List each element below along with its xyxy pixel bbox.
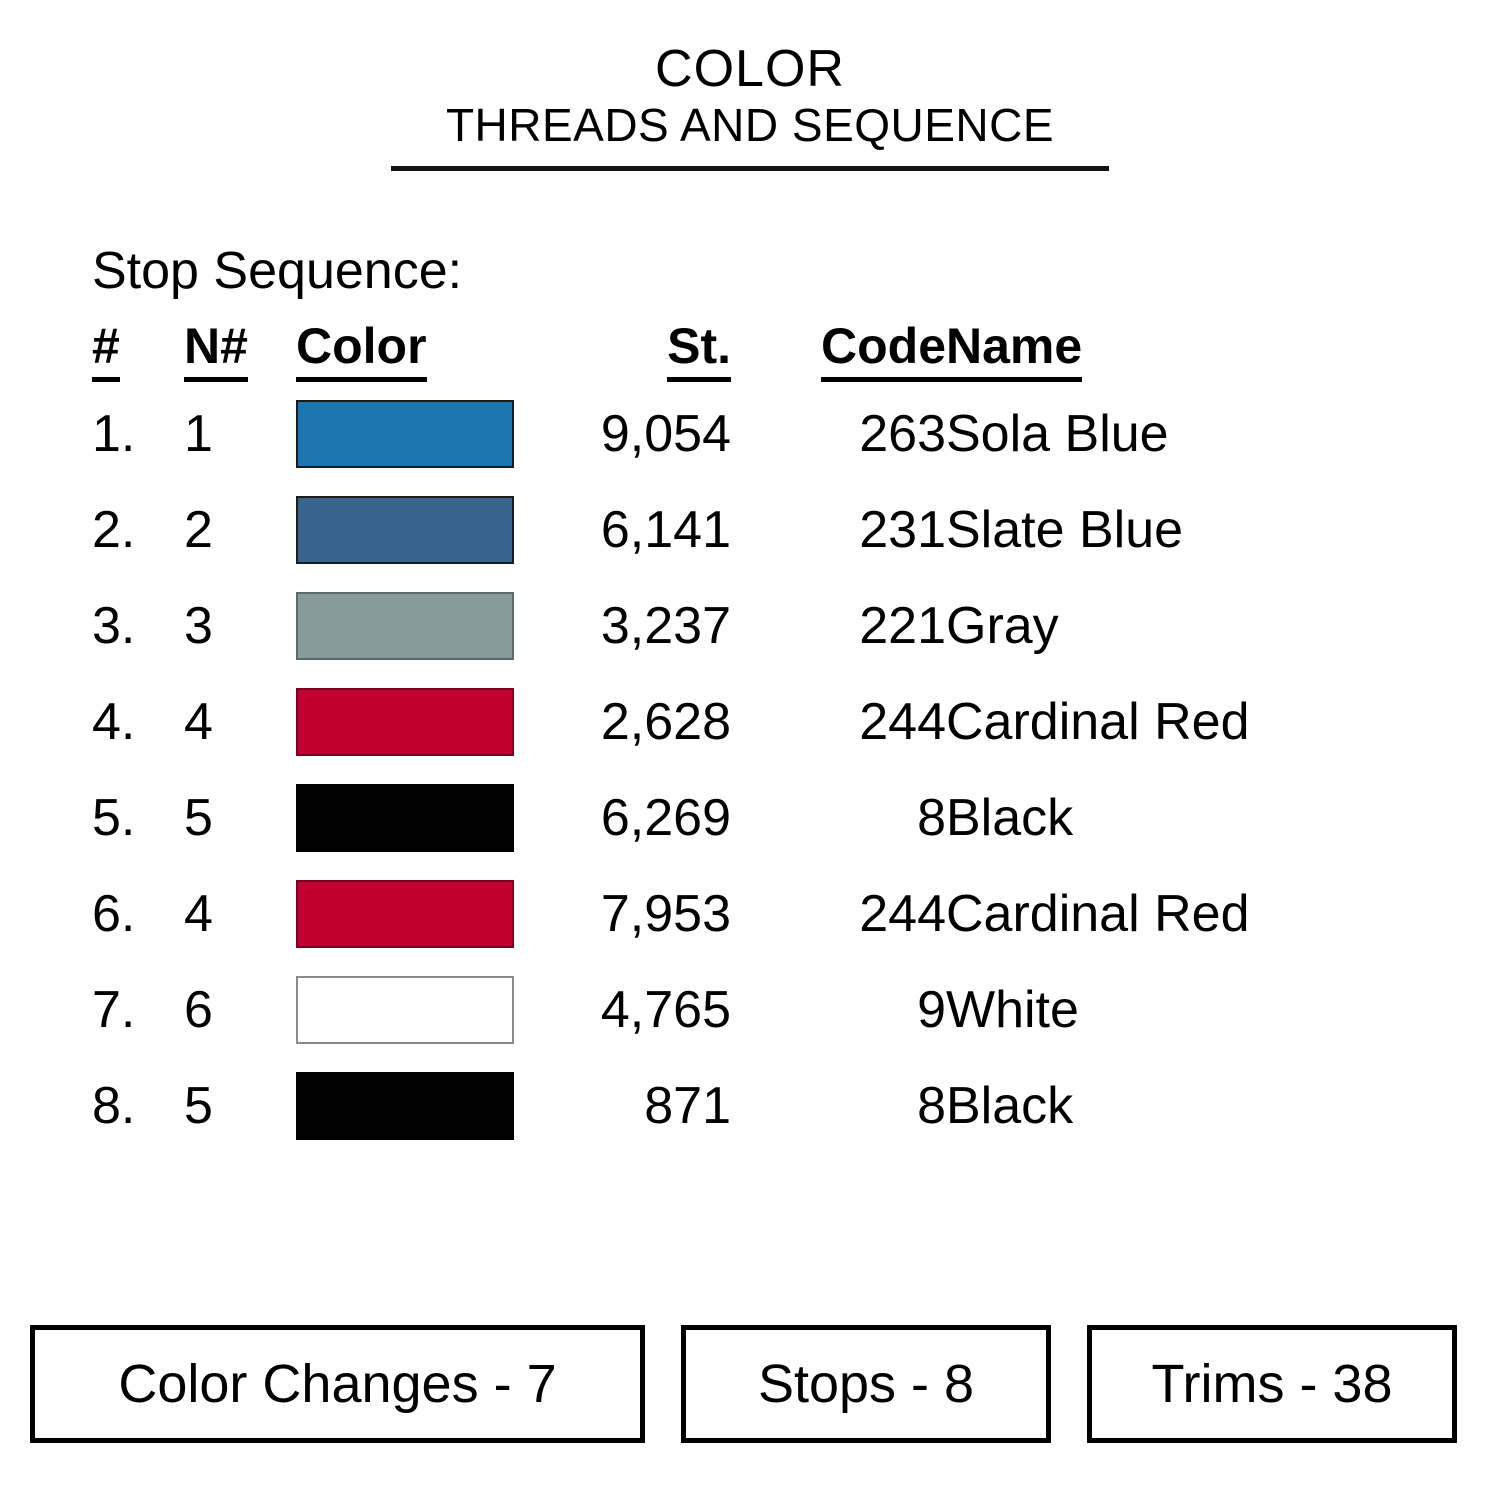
needle-number: 5 — [184, 1058, 296, 1154]
column-header-number-label: # — [92, 316, 120, 382]
row-number: 5. — [92, 770, 184, 866]
column-header-needle: N# — [184, 316, 296, 386]
table-row: 3.33,237221Gray — [92, 578, 1382, 674]
color-cell — [296, 866, 526, 962]
column-header-code-label: Code — [821, 316, 946, 382]
column-header-number: # — [92, 316, 184, 386]
stitch-count: 3,237 — [526, 578, 731, 674]
column-header-color-label: Color — [296, 316, 427, 382]
table-row: 5.56,2698Black — [92, 770, 1382, 866]
summary-row: Color Changes - 7 Stops - 8 Trims - 38 — [30, 1325, 1470, 1443]
column-header-needle-label: N# — [184, 316, 248, 382]
column-header-color: Color — [296, 316, 526, 386]
color-swatch — [296, 1072, 514, 1140]
color-cell — [296, 674, 526, 770]
column-header-name-label: Name — [946, 316, 1082, 382]
color-swatch — [296, 688, 514, 756]
page-subtitle: THREADS AND SEQUENCE — [0, 98, 1500, 152]
stops-label: Stops - 8 — [758, 1354, 974, 1414]
row-number: 3. — [92, 578, 184, 674]
trims-label: Trims - 38 — [1152, 1354, 1393, 1414]
thread-name: Cardinal Red — [946, 866, 1382, 962]
needle-number: 4 — [184, 674, 296, 770]
row-number: 1. — [92, 386, 184, 482]
table-row: 2.26,141231Slate Blue — [92, 482, 1382, 578]
color-cell — [296, 482, 526, 578]
stop-sequence-label: Stop Sequence: — [92, 240, 1422, 302]
table-row: 8.58718Black — [92, 1058, 1382, 1154]
color-swatch — [296, 976, 514, 1044]
thread-code: 244 — [731, 674, 946, 770]
needle-number: 1 — [184, 386, 296, 482]
color-swatch — [296, 400, 514, 468]
stitch-count: 9,054 — [526, 386, 731, 482]
color-changes-box: Color Changes - 7 — [30, 1325, 645, 1443]
color-swatch — [296, 592, 514, 660]
color-cell — [296, 1058, 526, 1154]
thread-code: 8 — [731, 1058, 946, 1154]
row-number: 2. — [92, 482, 184, 578]
color-changes-label: Color Changes - 7 — [118, 1354, 556, 1414]
thread-code: 8 — [731, 770, 946, 866]
table-row: 4.42,628244Cardinal Red — [92, 674, 1382, 770]
needle-number: 2 — [184, 482, 296, 578]
page-header: COLOR THREADS AND SEQUENCE — [0, 0, 1500, 171]
column-header-code: Code — [731, 316, 946, 386]
thread-name: Sola Blue — [946, 386, 1382, 482]
table-row: 1.19,054263Sola Blue — [92, 386, 1382, 482]
needle-number: 6 — [184, 962, 296, 1058]
stitch-count: 4,765 — [526, 962, 731, 1058]
stop-sequence-table: # N# Color St. Code Name 1.19,054263Sola… — [92, 316, 1382, 1154]
row-number: 4. — [92, 674, 184, 770]
row-number: 8. — [92, 1058, 184, 1154]
column-header-name: Name — [946, 316, 1382, 386]
trims-box: Trims - 38 — [1087, 1325, 1457, 1443]
table-row: 6.47,953244Cardinal Red — [92, 866, 1382, 962]
thread-name: Gray — [946, 578, 1382, 674]
color-swatch — [296, 784, 514, 852]
table-row: 7.64,7659White — [92, 962, 1382, 1058]
thread-name: White — [946, 962, 1382, 1058]
thread-code: 231 — [731, 482, 946, 578]
column-header-stitches-label: St. — [667, 316, 731, 382]
thread-name: Cardinal Red — [946, 674, 1382, 770]
column-header-stitches: St. — [526, 316, 731, 386]
stops-box: Stops - 8 — [681, 1325, 1051, 1443]
thread-code: 244 — [731, 866, 946, 962]
page-title: COLOR — [0, 40, 1500, 98]
row-number: 7. — [92, 962, 184, 1058]
color-cell — [296, 962, 526, 1058]
stitch-count: 2,628 — [526, 674, 731, 770]
stitch-count: 871 — [526, 1058, 731, 1154]
color-swatch — [296, 496, 514, 564]
stitch-count: 6,269 — [526, 770, 731, 866]
header-divider — [391, 166, 1109, 171]
thread-name: Slate Blue — [946, 482, 1382, 578]
thread-code: 9 — [731, 962, 946, 1058]
table-header-row: # N# Color St. Code Name — [92, 316, 1382, 386]
needle-number: 4 — [184, 866, 296, 962]
needle-number: 3 — [184, 578, 296, 674]
thread-name: Black — [946, 1058, 1382, 1154]
stitch-count: 6,141 — [526, 482, 731, 578]
color-cell — [296, 770, 526, 866]
row-number: 6. — [92, 866, 184, 962]
stop-sequence-section: Stop Sequence: # N# Color St. Code Name … — [92, 240, 1422, 1154]
needle-number: 5 — [184, 770, 296, 866]
stitch-count: 7,953 — [526, 866, 731, 962]
table-body: 1.19,054263Sola Blue2.26,141231Slate Blu… — [92, 386, 1382, 1154]
thread-name: Black — [946, 770, 1382, 866]
thread-code: 263 — [731, 386, 946, 482]
color-cell — [296, 386, 526, 482]
thread-code: 221 — [731, 578, 946, 674]
color-cell — [296, 578, 526, 674]
color-swatch — [296, 880, 514, 948]
